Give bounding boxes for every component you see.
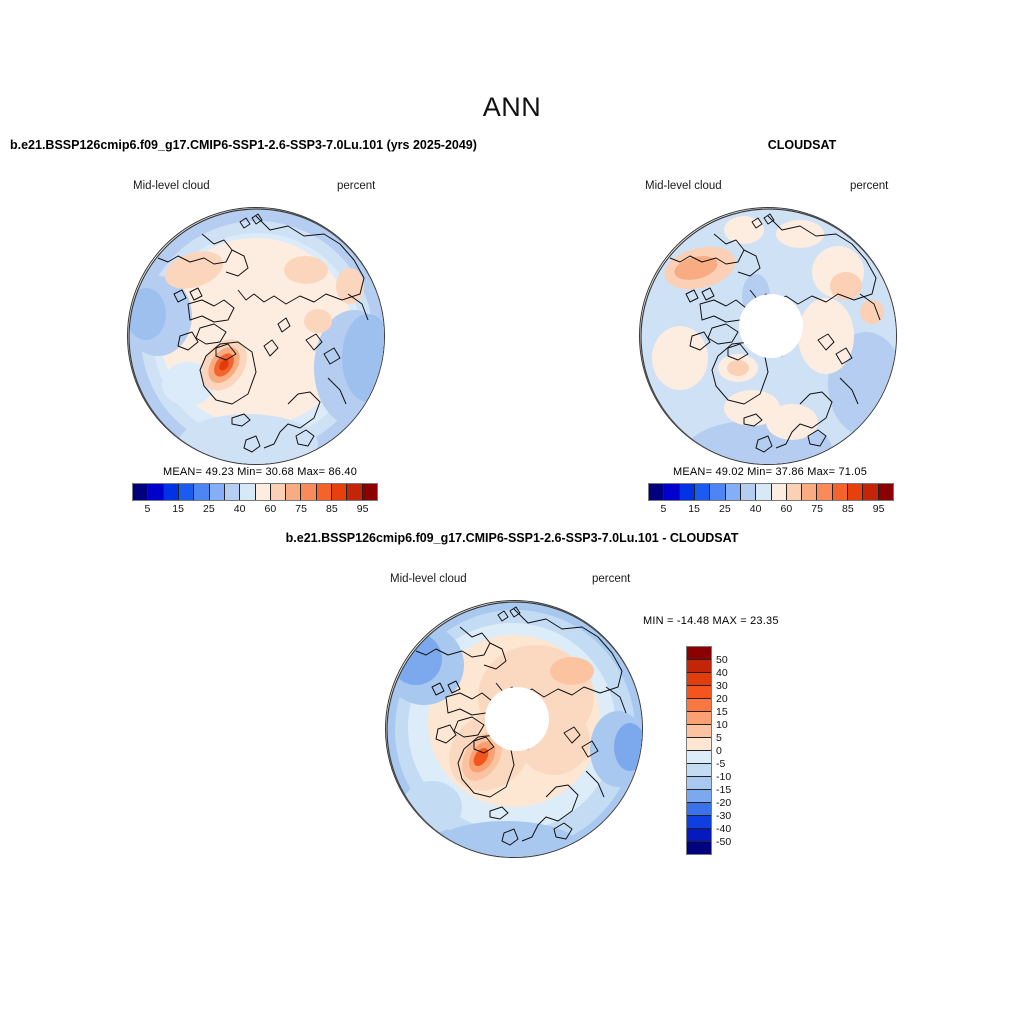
field-patch-ne-pale xyxy=(776,220,824,248)
colorbar-tick-60: 60 xyxy=(781,503,793,515)
diff-colorbar-segment-7 xyxy=(687,738,711,751)
field-patch-n-pale xyxy=(724,216,764,244)
difference-variable-label: Mid-level cloud xyxy=(390,573,467,585)
obs-map-svg xyxy=(640,208,897,465)
difference-map-globe[interactable] xyxy=(385,600,643,858)
colorbar-tick-40: 40 xyxy=(750,503,762,515)
colorbar-tick-25: 25 xyxy=(719,503,731,515)
field-patch-cen-warm xyxy=(304,309,332,333)
colorbar-segment-15 xyxy=(363,484,377,500)
diff-colorbar-segment-0 xyxy=(687,647,711,660)
diff-colorbar-segment-4 xyxy=(687,699,711,712)
diff-colorbar-segment-14 xyxy=(687,829,711,842)
colorbar-segment-6 xyxy=(225,484,240,500)
colorbar-segment-11 xyxy=(301,484,316,500)
obs-units-label: percent xyxy=(850,180,888,192)
model-variable-label: Mid-level cloud xyxy=(133,180,210,192)
colorbar-tick-85: 85 xyxy=(842,503,854,515)
colorbar-tick-5: 5 xyxy=(660,503,666,515)
obs-stats-line: MEAN= 49.02 Min= 37.86 Max= 71.05 xyxy=(673,466,867,478)
colorbar-segment-0 xyxy=(649,484,664,500)
diff-colorbar-tick-50: 50 xyxy=(716,654,728,666)
obs-colorbar[interactable]: 515254060758595 xyxy=(648,483,894,519)
field-patch-cen-e-pale xyxy=(798,298,854,374)
difference-stats-line: MIN = -14.48 MAX = 23.35 xyxy=(643,615,779,627)
model-colorbar[interactable]: 515254060758595 xyxy=(132,483,378,519)
colorbar-segment-5 xyxy=(210,484,225,500)
diff-colorbar-tick-10: 10 xyxy=(716,719,728,731)
diff-colorbar-segment-11 xyxy=(687,790,711,803)
colorbar-segment-9 xyxy=(271,484,286,500)
diff-colorbar-tick-15: 15 xyxy=(716,706,728,718)
diff-colorbar-tick-5: 5 xyxy=(716,732,722,744)
diff-colorbar-segment-10 xyxy=(687,777,711,790)
diff-colorbar-tick-neg5: -5 xyxy=(716,758,725,770)
colorbar-segment-0 xyxy=(133,484,148,500)
diff-colorbar-tick-neg10: -10 xyxy=(716,771,731,783)
polar-data-gap xyxy=(739,294,803,358)
diff-colorbar-segment-15 xyxy=(687,842,711,854)
colorbar-tick-15: 15 xyxy=(172,503,184,515)
obs-colorbar-ticks: 515254060758595 xyxy=(648,503,894,519)
colorbar-segment-9 xyxy=(787,484,802,500)
obs-variable-label: Mid-level cloud xyxy=(645,180,722,192)
diff-colorbar-tick-neg50: -50 xyxy=(716,836,731,848)
field-patch-far-e-warm xyxy=(860,300,884,324)
colorbar-segment-6 xyxy=(741,484,756,500)
colorbar-segment-2 xyxy=(680,484,695,500)
diff-colorbar-tick-neg30: -30 xyxy=(716,810,731,822)
colorbar-segment-4 xyxy=(710,484,725,500)
model-colorbar-strip[interactable] xyxy=(132,483,378,501)
colorbar-tick-25: 25 xyxy=(203,503,215,515)
diff-colorbar-tick-neg15: -15 xyxy=(716,784,731,796)
colorbar-segment-14 xyxy=(863,484,878,500)
colorbar-segment-12 xyxy=(317,484,332,500)
diff-colorbar-segment-1 xyxy=(687,660,711,673)
diff-colorbar-segment-8 xyxy=(687,751,711,764)
diff-colorbar-segment-6 xyxy=(687,725,711,738)
difference-colorbar-strip[interactable] xyxy=(686,646,712,855)
colorbar-tick-85: 85 xyxy=(326,503,338,515)
diff-colorbar-segment-12 xyxy=(687,803,711,816)
colorbar-tick-60: 60 xyxy=(265,503,277,515)
field-patch-w-pale xyxy=(652,326,708,390)
polar-data-gap xyxy=(485,687,549,751)
colorbar-segment-10 xyxy=(286,484,301,500)
colorbar-segment-8 xyxy=(256,484,271,500)
colorbar-segment-15 xyxy=(879,484,893,500)
colorbar-segment-3 xyxy=(179,484,194,500)
diff-colorbar-tick-40: 40 xyxy=(716,667,728,679)
diff-colorbar-tick-30: 30 xyxy=(716,680,728,692)
diff-colorbar-tick-neg20: -20 xyxy=(716,797,731,809)
difference-panel-title: b.e21.BSSP126cmip6.f09_g17.CMIP6-SSP1-2.… xyxy=(0,531,1024,545)
colorbar-segment-5 xyxy=(726,484,741,500)
obs-colorbar-strip[interactable] xyxy=(648,483,894,501)
colorbar-tick-15: 15 xyxy=(688,503,700,515)
colorbar-segment-8 xyxy=(772,484,787,500)
model-map-globe[interactable] xyxy=(127,207,385,465)
diff-colorbar-segment-3 xyxy=(687,686,711,699)
obs-panel-title: CLOUDSAT xyxy=(634,138,970,152)
field-patch-e-warm xyxy=(336,268,364,304)
diff-colorbar-tick-20: 20 xyxy=(716,693,728,705)
diff-colorbar-segment-13 xyxy=(687,816,711,829)
model-units-label: percent xyxy=(337,180,375,192)
colorbar-segment-2 xyxy=(164,484,179,500)
colorbar-segment-14 xyxy=(347,484,362,500)
colorbar-segment-12 xyxy=(833,484,848,500)
model-colorbar-ticks: 515254060758595 xyxy=(132,503,378,519)
model-stats-line: MEAN= 49.23 Min= 30.68 Max= 86.40 xyxy=(163,466,357,478)
diff-colorbar-segment-2 xyxy=(687,673,711,686)
field-patch-ne-warm xyxy=(550,657,594,685)
colorbar-tick-40: 40 xyxy=(234,503,246,515)
diff-colorbar-segment-5 xyxy=(687,712,711,725)
colorbar-tick-75: 75 xyxy=(811,503,823,515)
difference-units-label: percent xyxy=(592,573,630,585)
difference-colorbar[interactable] xyxy=(686,646,712,855)
diff-colorbar-tick-0: 0 xyxy=(716,745,722,757)
colorbar-segment-4 xyxy=(194,484,209,500)
model-map-svg xyxy=(128,208,385,465)
colorbar-segment-1 xyxy=(148,484,163,500)
obs-map-globe[interactable] xyxy=(639,207,897,465)
field-patch-sw-blue xyxy=(402,781,462,833)
colorbar-segment-11 xyxy=(817,484,832,500)
diff-colorbar-tick-neg40: -40 xyxy=(716,823,731,835)
colorbar-segment-3 xyxy=(695,484,710,500)
colorbar-tick-95: 95 xyxy=(357,503,369,515)
colorbar-segment-7 xyxy=(240,484,255,500)
colorbar-segment-13 xyxy=(848,484,863,500)
field-patch-greenland-warm xyxy=(727,360,749,376)
field-patch-ne-warm xyxy=(284,256,328,284)
colorbar-segment-13 xyxy=(332,484,347,500)
colorbar-segment-1 xyxy=(664,484,679,500)
colorbar-segment-10 xyxy=(802,484,817,500)
season-title: ANN xyxy=(0,92,1024,123)
colorbar-tick-5: 5 xyxy=(144,503,150,515)
model-panel-title: b.e21.BSSP126cmip6.f09_g17.CMIP6-SSP1-2.… xyxy=(10,138,477,152)
colorbar-tick-75: 75 xyxy=(295,503,307,515)
colorbar-tick-95: 95 xyxy=(873,503,885,515)
difference-map-svg xyxy=(386,601,643,858)
diff-colorbar-segment-9 xyxy=(687,764,711,777)
colorbar-segment-7 xyxy=(756,484,771,500)
